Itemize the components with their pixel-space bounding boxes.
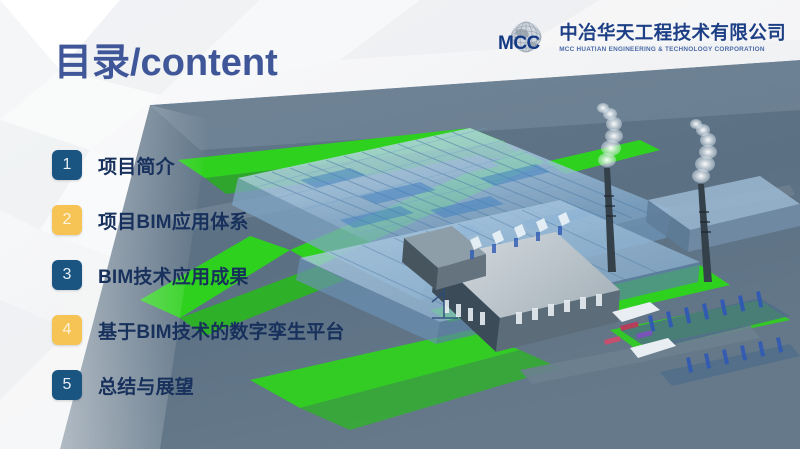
svg-text:MCC: MCC (498, 33, 541, 54)
agenda-item-label: 总结与展望 (98, 372, 194, 399)
agenda-number-badge: 3 (52, 260, 82, 290)
presentation-slide: MCC 中冶华天工程技术有限公司 MCC HUATIAN ENGINEERING… (0, 0, 800, 449)
company-name-en: MCC HUATIAN ENGINEERING & TECHNOLOGY COR… (559, 46, 786, 53)
agenda-item-5[interactable]: 5 总结与展望 (52, 370, 345, 400)
company-logo: MCC 中冶华天工程技术有限公司 MCC HUATIAN ENGINEERING… (496, 18, 786, 58)
agenda-item-3[interactable]: 3 BIM技术应用成果 (52, 260, 345, 290)
agenda-number-badge: 2 (52, 205, 82, 235)
page-title: 目录/content (54, 44, 278, 82)
agenda-item-label: 项目BIM应用体系 (98, 207, 249, 234)
agenda-item-2[interactable]: 2 项目BIM应用体系 (52, 205, 345, 235)
agenda-item-label: 项目简介 (98, 152, 175, 179)
logo-text-block: 中冶华天工程技术有限公司 MCC HUATIAN ENGINEERING & T… (559, 23, 786, 53)
agenda-number-badge: 1 (52, 150, 82, 180)
agenda-number-badge: 4 (52, 315, 82, 345)
agenda-item-4[interactable]: 4 基于BIM技术的数字孪生平台 (52, 315, 345, 345)
agenda-item-label: BIM技术应用成果 (98, 262, 249, 289)
company-name-cn: 中冶华天工程技术有限公司 (559, 23, 786, 44)
agenda-item-label: 基于BIM技术的数字孪生平台 (98, 317, 345, 344)
agenda-number-badge: 5 (52, 370, 82, 400)
mcc-globe-icon: MCC (496, 18, 552, 58)
agenda-list: 1 项目简介 2 项目BIM应用体系 3 BIM技术应用成果 4 基于BIM技术… (52, 150, 345, 400)
agenda-item-1[interactable]: 1 项目简介 (52, 150, 345, 180)
